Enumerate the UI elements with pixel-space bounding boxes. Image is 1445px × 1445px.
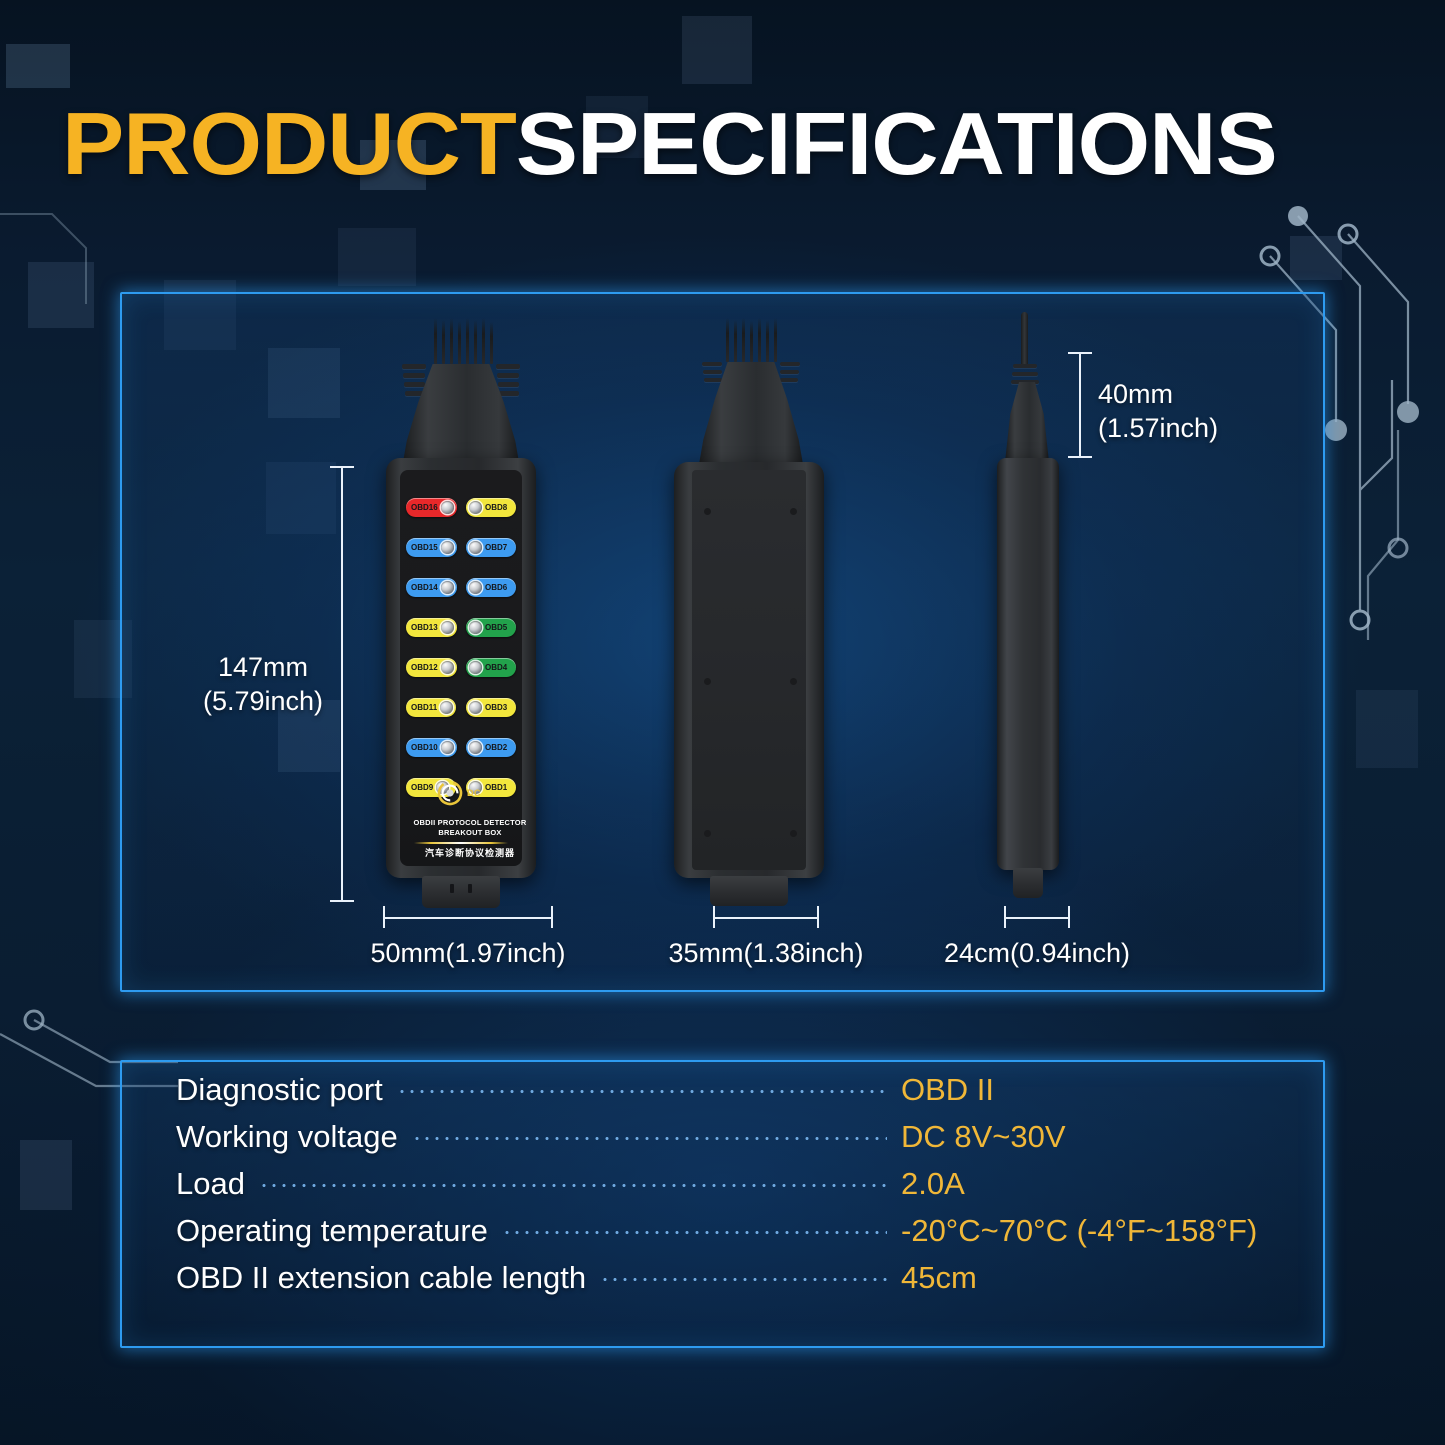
led-label: OBD9 bbox=[411, 784, 433, 792]
led-obd7[interactable]: OBD7 bbox=[466, 538, 516, 557]
wire-strand bbox=[458, 321, 461, 364]
brand-text-chinese: 汽车诊断协议检测器 bbox=[380, 846, 560, 859]
brand-text-line1: OBDII PROTOCOL DETECTOR bbox=[380, 818, 560, 828]
wire-strand bbox=[474, 320, 477, 364]
specifications-list: Diagnostic port OBD II Working voltage D… bbox=[176, 1072, 1291, 1307]
dimension-cap bbox=[1068, 352, 1092, 354]
strain-relief-rib bbox=[403, 373, 425, 378]
dimension-line-width-back bbox=[713, 917, 819, 919]
wire-strand bbox=[482, 318, 485, 364]
led-indicator bbox=[441, 741, 454, 754]
leader-dots bbox=[412, 1137, 887, 1140]
screw-dot bbox=[704, 508, 711, 515]
dimension-boot-label: 40mm (1.57inch) bbox=[1098, 377, 1328, 445]
led-row: OBD12 OBD4 bbox=[406, 658, 516, 677]
dimension-cap bbox=[1004, 906, 1006, 928]
strain-relief-rib bbox=[1013, 364, 1037, 368]
led-obd10[interactable]: OBD10 bbox=[406, 738, 457, 757]
dimension-cap bbox=[330, 466, 354, 468]
spec-value: DC 8V~30V bbox=[901, 1119, 1291, 1155]
dc-power-indicator: DC bbox=[437, 780, 481, 806]
led-obd6[interactable]: OBD6 bbox=[466, 578, 516, 597]
circuit-trace-right-middle bbox=[1348, 430, 1445, 650]
cable bbox=[1021, 312, 1028, 368]
dimension-width-back-label: 35mm(1.38inch) bbox=[636, 936, 896, 970]
dimension-line-width-side bbox=[1004, 917, 1070, 919]
spec-label: Operating temperature bbox=[176, 1213, 488, 1249]
decor-square bbox=[1290, 236, 1342, 280]
dimension-height-mm: 147mm bbox=[188, 650, 338, 684]
screw-dot bbox=[790, 508, 797, 515]
led-row: OBD13 OBD5 bbox=[406, 618, 516, 637]
cable-boot bbox=[402, 364, 520, 468]
decor-square bbox=[28, 262, 94, 328]
screw-dot bbox=[790, 830, 797, 837]
led-indicator bbox=[469, 581, 482, 594]
led-label: OBD1 bbox=[485, 784, 507, 792]
brand-divider bbox=[414, 842, 508, 844]
led-indicator bbox=[469, 501, 482, 514]
led-indicator bbox=[440, 701, 453, 714]
dimension-line-boot bbox=[1079, 352, 1081, 458]
wire-strand bbox=[774, 318, 777, 362]
decor-square bbox=[1356, 690, 1418, 768]
led-label: OBD6 bbox=[485, 584, 507, 592]
strain-relief-rib bbox=[704, 378, 722, 382]
led-indicator bbox=[469, 541, 482, 554]
dimension-line-width-front bbox=[383, 917, 553, 919]
leader-dots bbox=[600, 1278, 887, 1281]
dimension-boot-inch: (1.57inch) bbox=[1098, 411, 1328, 445]
strain-relief-rib bbox=[498, 382, 519, 387]
screw-dot bbox=[790, 678, 797, 685]
spec-row-working-voltage: Working voltage DC 8V~30V bbox=[176, 1119, 1291, 1166]
leader-dots bbox=[502, 1231, 887, 1234]
dc-label: DC bbox=[467, 788, 481, 798]
spec-row-diagnostic-port: Diagnostic port OBD II bbox=[176, 1072, 1291, 1119]
wire-strand bbox=[766, 320, 769, 362]
led-row: OBD16 OBD8 bbox=[406, 498, 516, 517]
led-label: OBD8 bbox=[485, 504, 507, 512]
title-word-product: PRODUCT bbox=[62, 94, 516, 193]
led-obd5[interactable]: OBD5 bbox=[466, 618, 516, 637]
wire-strand bbox=[442, 320, 445, 364]
led-row: OBD14 OBD6 bbox=[406, 578, 516, 597]
decor-square bbox=[20, 1140, 72, 1210]
led-indicator bbox=[469, 701, 482, 714]
spec-row-load: Load 2.0A bbox=[176, 1166, 1291, 1213]
led-obd12[interactable]: OBD12 bbox=[406, 658, 457, 677]
strain-relief-rib bbox=[402, 364, 426, 369]
device-back-plate bbox=[692, 470, 806, 870]
dimension-cap bbox=[1068, 456, 1092, 458]
leader-dots bbox=[259, 1184, 887, 1187]
led-obd14[interactable]: OBD14 bbox=[406, 578, 457, 597]
led-obd4[interactable]: OBD4 bbox=[466, 658, 516, 677]
device-side-view bbox=[975, 312, 1085, 918]
strain-relief-rib bbox=[780, 362, 800, 366]
strain-relief-rib bbox=[497, 373, 519, 378]
dimension-height-label: 147mm (5.79inch) bbox=[188, 650, 338, 718]
wire-strand bbox=[466, 318, 469, 364]
strain-relief-rib bbox=[496, 364, 520, 369]
dimension-cap bbox=[713, 906, 715, 928]
spec-label: Load bbox=[176, 1166, 245, 1202]
wire-strand bbox=[490, 322, 493, 364]
led-indicator bbox=[469, 621, 482, 634]
strain-relief-rib bbox=[702, 362, 722, 366]
led-obd11[interactable]: OBD11 bbox=[406, 698, 456, 717]
led-indicator bbox=[469, 741, 482, 754]
led-obd2[interactable]: OBD2 bbox=[466, 738, 516, 757]
device-front-view: OBD16 OBD8 OBD15 OBD7 bbox=[380, 318, 560, 918]
dimension-cap bbox=[551, 906, 553, 928]
dimension-line-height bbox=[341, 466, 343, 902]
obd-connector bbox=[1013, 868, 1043, 898]
led-label: OBD15 bbox=[411, 544, 438, 552]
title-word-specifications: SPECIFICATIONS bbox=[516, 94, 1277, 193]
wire-strand bbox=[758, 318, 761, 362]
page-title: PRODUCTSPECIFICATIONS bbox=[62, 96, 1445, 192]
strain-relief-rib bbox=[1012, 372, 1038, 376]
connector-pin-slot bbox=[468, 884, 472, 893]
leader-dots bbox=[397, 1090, 887, 1093]
decor-square bbox=[6, 44, 70, 88]
connector-pin-slot bbox=[450, 884, 454, 893]
dimension-cap bbox=[817, 906, 819, 928]
wire-strand bbox=[742, 318, 745, 362]
spec-label: Diagnostic port bbox=[176, 1072, 383, 1108]
strain-relief-rib bbox=[404, 382, 425, 387]
strain-relief-rib bbox=[780, 378, 798, 382]
led-label: OBD7 bbox=[485, 544, 507, 552]
spec-value: 2.0A bbox=[901, 1166, 1291, 1202]
spec-value: 45cm bbox=[901, 1260, 1291, 1296]
led-obd8[interactable]: OBD8 bbox=[466, 498, 516, 517]
device-back-view bbox=[668, 318, 848, 918]
dimension-cap bbox=[1068, 906, 1070, 928]
dimension-cap bbox=[330, 900, 354, 902]
spec-label: OBD II extension cable length bbox=[176, 1260, 586, 1296]
led-row: OBD10 OBD2 bbox=[406, 738, 516, 757]
strain-relief-rib bbox=[780, 370, 799, 374]
wire-strand bbox=[750, 321, 753, 362]
screw-dot bbox=[704, 830, 711, 837]
led-label: OBD16 bbox=[411, 504, 438, 512]
spec-row-operating-temperature: Operating temperature -20°C~70°C (-4°F~1… bbox=[176, 1213, 1291, 1260]
led-label: OBD12 bbox=[411, 664, 438, 672]
device-housing-side bbox=[997, 458, 1059, 870]
led-obd13[interactable]: OBD13 bbox=[406, 618, 457, 637]
led-indicator bbox=[441, 661, 454, 674]
led-indicator bbox=[441, 501, 454, 514]
brand-text-line2: BREAKOUT BOX bbox=[380, 828, 560, 838]
dc-ring-icon bbox=[437, 780, 463, 806]
dimension-width-front-label: 50mm(1.97inch) bbox=[338, 936, 598, 970]
led-label: OBD5 bbox=[485, 624, 507, 632]
spec-label: Working voltage bbox=[176, 1119, 398, 1155]
led-label: OBD14 bbox=[411, 584, 438, 592]
wire-strand bbox=[450, 318, 453, 364]
decor-square bbox=[338, 228, 416, 286]
dimension-boot-mm: 40mm bbox=[1098, 377, 1328, 411]
obd-connector bbox=[710, 876, 788, 906]
strain-relief-rib bbox=[703, 370, 722, 374]
product-specification-page: PRODUCTSPECIFICATIONS OBD1 bbox=[0, 0, 1445, 1445]
wire-strand bbox=[434, 318, 437, 364]
dimension-cap bbox=[383, 906, 385, 928]
cable-boot bbox=[1005, 382, 1049, 462]
spec-value: OBD II bbox=[901, 1072, 1291, 1108]
led-indicator bbox=[469, 661, 482, 674]
led-obd15[interactable]: OBD15 bbox=[406, 538, 457, 557]
dimension-height-inch: (5.79inch) bbox=[188, 684, 338, 718]
led-indicator bbox=[441, 621, 454, 634]
obd-connector bbox=[422, 876, 500, 908]
wire-strand bbox=[726, 318, 729, 362]
led-obd16[interactable]: OBD16 bbox=[406, 498, 457, 517]
spec-value: -20°C~70°C (-4°F~158°F) bbox=[901, 1213, 1291, 1249]
led-label: OBD2 bbox=[485, 744, 507, 752]
dimension-width-side-label: 24cm(0.94inch) bbox=[907, 936, 1167, 970]
led-obd3[interactable]: OBD3 bbox=[466, 698, 516, 717]
led-label: OBD13 bbox=[411, 624, 438, 632]
led-row: OBD15 OBD7 bbox=[406, 538, 516, 557]
screw-dot bbox=[704, 678, 711, 685]
led-label: OBD4 bbox=[485, 664, 507, 672]
wire-strand bbox=[734, 320, 737, 362]
spec-row-cable-length: OBD II extension cable length 45cm bbox=[176, 1260, 1291, 1307]
decor-square bbox=[682, 16, 752, 84]
led-label: OBD11 bbox=[411, 704, 437, 712]
led-grid: OBD16 OBD8 OBD15 OBD7 bbox=[406, 498, 516, 780]
strain-relief-rib bbox=[499, 391, 519, 396]
led-label: OBD10 bbox=[411, 744, 438, 752]
led-row: OBD11 OBD3 bbox=[406, 698, 516, 717]
led-label: OBD3 bbox=[485, 704, 507, 712]
led-indicator bbox=[441, 581, 454, 594]
led-indicator bbox=[441, 541, 454, 554]
